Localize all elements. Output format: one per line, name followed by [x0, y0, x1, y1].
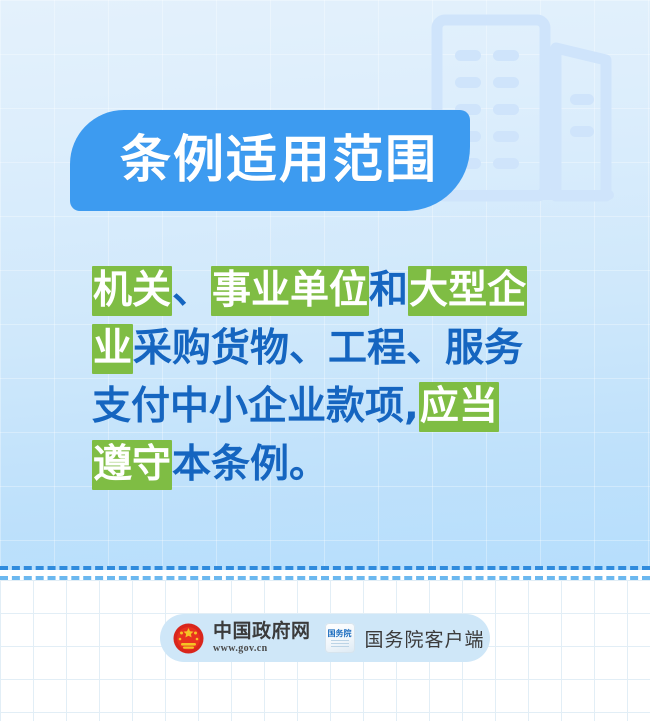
- copy-line-4: 遵守本条例。: [92, 438, 574, 492]
- app-icon-label: 国务院: [328, 630, 352, 638]
- highlight-phrase: 应当: [419, 382, 499, 432]
- poster-infographic: 条例适用范围 机关、事业单位和大型企 业采购货物、工程、服务 支付中小企业款项,…: [0, 0, 650, 721]
- dashed-divider-top: [0, 566, 650, 570]
- plain-text: 支付中小企业款项,: [92, 384, 419, 429]
- state-council-app-icon: 国务院: [325, 623, 355, 653]
- plain-text: 本条例。: [172, 442, 328, 487]
- highlight-phrase: 事业单位: [211, 266, 369, 316]
- plain-text: 和: [369, 268, 408, 313]
- highlight-phrase: 遵守: [92, 440, 172, 490]
- highlight-phrase: 业: [92, 324, 133, 374]
- app-icon-lines: [331, 640, 349, 647]
- plain-text: 、: [172, 268, 211, 313]
- gov-site-url: www.gov.cn: [213, 644, 311, 654]
- page-title: 条例适用范围: [102, 135, 438, 186]
- body-copy: 机关、事业单位和大型企 业采购货物、工程、服务 支付中小企业款项,应当 遵守本条…: [92, 264, 574, 496]
- plain-text: 采购货物、工程、服务: [133, 326, 523, 371]
- app-name-label: 国务院客户端: [365, 625, 485, 652]
- copy-line-1: 机关、事业单位和大型企: [92, 264, 574, 318]
- gov-site-block: 中国政府网 www.gov.cn: [213, 622, 311, 654]
- title-banner: 条例适用范围: [70, 110, 470, 211]
- highlight-phrase: 大型企: [408, 266, 527, 316]
- copy-line-3: 支付中小企业款项,应当: [92, 380, 574, 434]
- copy-line-2: 业采购货物、工程、服务: [92, 322, 574, 376]
- china-national-emblem-icon: [172, 622, 205, 655]
- blue-background-panel: 条例适用范围 机关、事业单位和大型企 业采购货物、工程、服务 支付中小企业款项,…: [0, 0, 650, 570]
- footer-branding: 中国政府网 www.gov.cn 国务院 国务院客户端: [160, 614, 490, 662]
- highlight-phrase: 机关: [92, 266, 172, 316]
- footer-area: 中国政府网 www.gov.cn 国务院 国务院客户端: [0, 580, 650, 721]
- gov-site-name: 中国政府网: [213, 622, 311, 641]
